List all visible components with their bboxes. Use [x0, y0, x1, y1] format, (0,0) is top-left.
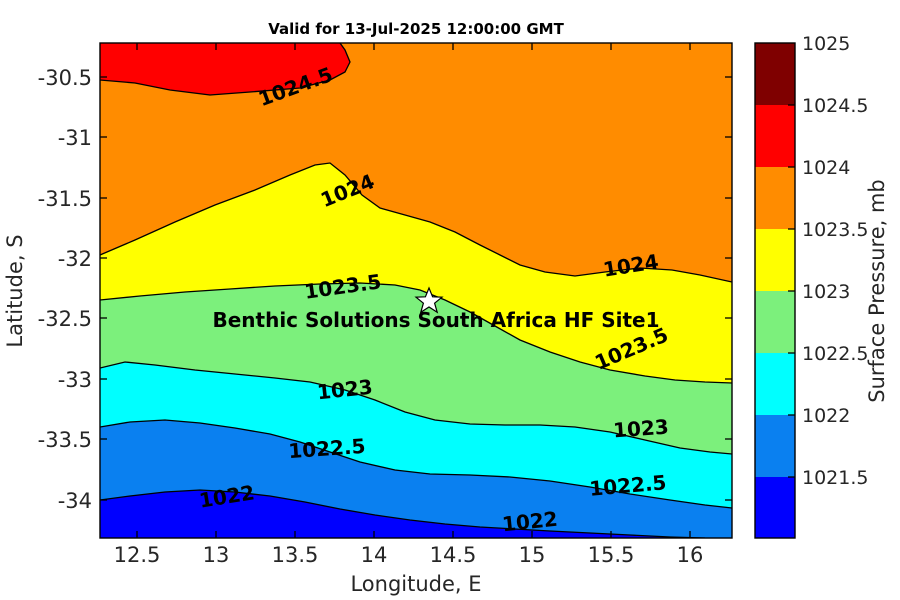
- y-tick-label: -32: [58, 247, 92, 271]
- colorbar-swatch-1022_5: [755, 353, 795, 415]
- colorbar-tick-label: 1021.5: [802, 467, 868, 489]
- contour-label: 1023: [612, 415, 669, 443]
- y-tick-label: -33: [58, 368, 92, 392]
- colorbar-tick-label: 1022: [802, 405, 850, 427]
- x-tick-label: 13.5: [272, 543, 319, 567]
- colorbar-label: Surface Pressure, mb: [865, 179, 889, 402]
- colorbar-swatch-1022: [755, 415, 795, 477]
- y-tick-label: -34: [58, 489, 92, 513]
- y-tick-label: -33.5: [38, 428, 92, 452]
- x-tick-label: 16: [677, 543, 704, 567]
- colorbar-tick-label: 1023.5: [802, 219, 868, 241]
- site-label: Benthic Solutions South Africa HF Site1: [212, 308, 659, 332]
- y-tick-label: -32.5: [38, 307, 92, 331]
- y-tick-label: -31.5: [38, 187, 92, 211]
- x-tick-label: 14.5: [430, 543, 477, 567]
- colorbar-swatch-1024: [755, 167, 795, 229]
- page-title: Valid for 13-Jul-2025 12:00:00 GMT: [268, 20, 564, 38]
- y-tick-label: -30.5: [38, 66, 92, 90]
- colorbar-tick-label: 1024: [802, 157, 850, 179]
- x-tick-label: 13: [203, 543, 230, 567]
- colorbar-swatch-1023_5: [755, 229, 795, 291]
- colorbar-tick-label: 1023: [802, 281, 850, 303]
- contour-plot-figure: 1024.5 1024 1024 1023.5 1023.5 1023 1023…: [0, 0, 900, 600]
- colorbar-swatch-1024_5: [755, 105, 795, 167]
- colorbar-tick-label: 1024.5: [802, 95, 868, 117]
- colorbar-swatch-1021_5: [755, 477, 795, 538]
- x-tick-label: 15.5: [588, 543, 635, 567]
- y-axis-label: Latitude, S: [3, 234, 27, 347]
- colorbar-tick-label: 1025: [802, 33, 850, 55]
- y-tick-label: -31: [58, 126, 92, 150]
- contour-fill-layer: [100, 43, 732, 545]
- x-tick-label: 14: [361, 543, 388, 567]
- colorbar-swatch-1023: [755, 291, 795, 353]
- colorbar-tick-label: 1022.5: [802, 343, 868, 365]
- x-axis-label: Longitude, E: [350, 572, 481, 596]
- x-tick-label: 15: [519, 543, 546, 567]
- colorbar-swatch-1025: [755, 43, 795, 105]
- x-tick-label: 12.5: [114, 543, 161, 567]
